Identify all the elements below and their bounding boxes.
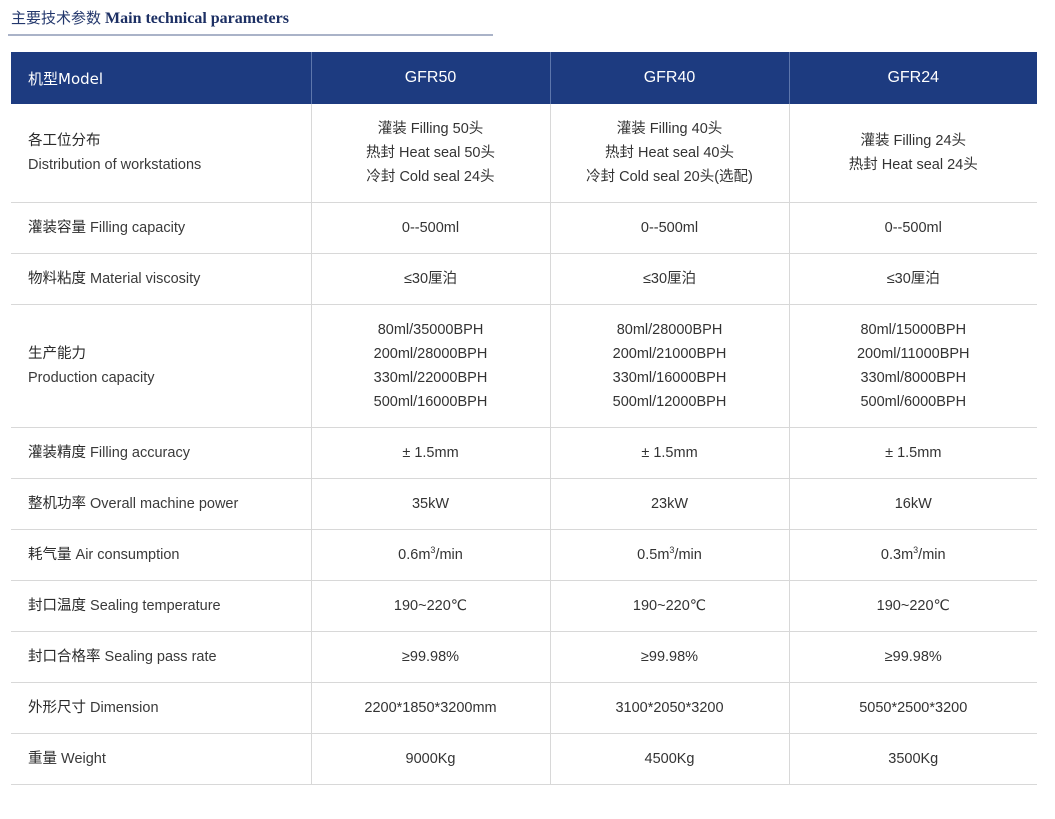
value-cell-gfr50: ± 1.5mm — [311, 428, 550, 479]
value-line: 330ml/22000BPH — [320, 366, 542, 390]
value-line: 200ml/21000BPH — [559, 342, 781, 366]
section-title: 主要技术参数Main technical parameters — [0, 0, 1055, 36]
row-label-cell: 重量 Weight — [11, 734, 311, 785]
table-row: 耗气量 Air consumption0.6m3/min0.5m3/min0.3… — [11, 530, 1037, 581]
spec-table: 机型Model GFR50 GFR40 GFR24 各工位分布Distribut… — [11, 52, 1037, 785]
table-row: 封口温度 Sealing temperature190~220℃190~220℃… — [11, 581, 1037, 632]
value-cell-gfr24: 0--500ml — [789, 203, 1037, 254]
value-cell-gfr50: ≥99.98% — [311, 632, 550, 683]
value-line: 0.6m3/min — [320, 543, 542, 567]
section-title-cn: 主要技术参数 — [11, 9, 101, 27]
value-cell-gfr50: 80ml/35000BPH200ml/28000BPH330ml/22000BP… — [311, 305, 550, 428]
column-header-model: 机型Model — [11, 52, 311, 104]
value-line: 16kW — [798, 492, 1030, 516]
row-label-cell: 封口合格率 Sealing pass rate — [11, 632, 311, 683]
value-cell-gfr40: 190~220℃ — [550, 581, 789, 632]
value-cell-gfr40: ± 1.5mm — [550, 428, 789, 479]
value-line: 80ml/35000BPH — [320, 318, 542, 342]
value-line: 0--500ml — [798, 216, 1030, 240]
value-line: 灌装 Filling 40头 — [559, 117, 781, 141]
row-label-cn: 灌装容量 — [28, 220, 86, 236]
table-row: 封口合格率 Sealing pass rate≥99.98%≥99.98%≥99… — [11, 632, 1037, 683]
table-row: 灌装容量 Filling capacity0--500ml0--500ml0--… — [11, 203, 1037, 254]
value-line: 500ml/6000BPH — [798, 390, 1030, 414]
table-header-row: 机型Model GFR50 GFR40 GFR24 — [11, 52, 1037, 104]
row-label-en: Weight — [57, 751, 106, 767]
row-label-cn: 封口温度 — [28, 598, 86, 614]
table-row: 物料粘度 Material viscosity≤30厘泊≤30厘泊≤30厘泊 — [11, 254, 1037, 305]
row-label-cn: 物料粘度 — [28, 271, 86, 287]
title-underline-rule — [8, 34, 493, 36]
value-cell-gfr24: ≥99.98% — [789, 632, 1037, 683]
value-line: ≤30厘泊 — [798, 267, 1030, 291]
value-cell-gfr24: 190~220℃ — [789, 581, 1037, 632]
value-cell-gfr24: ± 1.5mm — [789, 428, 1037, 479]
value-line: 冷封 Cold seal 20头(选配) — [559, 165, 781, 189]
section-title-en: Main technical parameters — [105, 10, 289, 27]
row-label-cn: 生产能力 — [28, 342, 299, 366]
value-line: 热封 Heat seal 24头 — [798, 153, 1030, 177]
value-cell-gfr40: 0.5m3/min — [550, 530, 789, 581]
value-cell-gfr24: 3500Kg — [789, 734, 1037, 785]
row-label-cn: 整机功率 — [28, 496, 86, 512]
section-title-text: 主要技术参数Main technical parameters — [11, 8, 1055, 29]
value-line: ≤30厘泊 — [559, 267, 781, 291]
value-cell-gfr24: 80ml/15000BPH200ml/11000BPH330ml/8000BPH… — [789, 305, 1037, 428]
value-line: 190~220℃ — [798, 594, 1030, 618]
value-line: 5050*2500*3200 — [798, 696, 1030, 720]
value-line: 热封 Heat seal 40头 — [559, 141, 781, 165]
value-cell-gfr50: 9000Kg — [311, 734, 550, 785]
value-cell-gfr50: ≤30厘泊 — [311, 254, 550, 305]
value-line: 0.3m3/min — [798, 543, 1030, 567]
value-line: ≥99.98% — [320, 645, 542, 669]
value-line: 3100*2050*3200 — [559, 696, 781, 720]
value-line: 500ml/12000BPH — [559, 390, 781, 414]
row-label-en: Filling accuracy — [86, 445, 190, 461]
value-line: 80ml/15000BPH — [798, 318, 1030, 342]
row-label-cell: 物料粘度 Material viscosity — [11, 254, 311, 305]
spec-table-container: 机型Model GFR50 GFR40 GFR24 各工位分布Distribut… — [11, 52, 1037, 785]
value-cell-gfr40: 23kW — [550, 479, 789, 530]
value-cell-gfr50: 35kW — [311, 479, 550, 530]
row-label-en: Sealing pass rate — [101, 649, 217, 665]
spec-sheet-page: 主要技术参数Main technical parameters 机型Model … — [0, 0, 1055, 819]
value-cell-gfr50: 0--500ml — [311, 203, 550, 254]
value-cell-gfr40: 0--500ml — [550, 203, 789, 254]
row-label-cell: 整机功率 Overall machine power — [11, 479, 311, 530]
value-cell-gfr40: ≤30厘泊 — [550, 254, 789, 305]
table-row: 外形尺寸 Dimension2200*1850*3200mm3100*2050*… — [11, 683, 1037, 734]
column-header-gfr24: GFR24 — [789, 52, 1037, 104]
row-label-cell: 外形尺寸 Dimension — [11, 683, 311, 734]
value-line: 9000Kg — [320, 747, 542, 771]
value-line: 热封 Heat seal 50头 — [320, 141, 542, 165]
value-line: 80ml/28000BPH — [559, 318, 781, 342]
value-line: 冷封 Cold seal 24头 — [320, 165, 542, 189]
row-label-en: Dimension — [86, 700, 159, 716]
row-label-cn: 外形尺寸 — [28, 700, 86, 716]
value-cell-gfr24: ≤30厘泊 — [789, 254, 1037, 305]
column-header-gfr40: GFR40 — [550, 52, 789, 104]
value-line: ≥99.98% — [798, 645, 1030, 669]
row-label-en: Distribution of workstations — [28, 153, 299, 177]
value-line: 灌装 Filling 24头 — [798, 129, 1030, 153]
value-cell-gfr24: 0.3m3/min — [789, 530, 1037, 581]
row-label-en: Filling capacity — [86, 220, 185, 236]
row-label-cell: 生产能力Production capacity — [11, 305, 311, 428]
value-cell-gfr24: 16kW — [789, 479, 1037, 530]
value-line: 190~220℃ — [320, 594, 542, 618]
row-label-cell: 封口温度 Sealing temperature — [11, 581, 311, 632]
row-label-cn: 耗气量 — [28, 547, 72, 563]
value-cell-gfr24: 5050*2500*3200 — [789, 683, 1037, 734]
value-line: ± 1.5mm — [798, 441, 1030, 465]
table-row: 各工位分布Distribution of workstations灌装 Fill… — [11, 104, 1037, 203]
row-label-cell: 灌装精度 Filling accuracy — [11, 428, 311, 479]
value-line: 200ml/28000BPH — [320, 342, 542, 366]
value-cell-gfr40: ≥99.98% — [550, 632, 789, 683]
row-label-cn: 各工位分布 — [28, 129, 299, 153]
value-line: 200ml/11000BPH — [798, 342, 1030, 366]
value-cell-gfr50: 灌装 Filling 50头热封 Heat seal 50头冷封 Cold se… — [311, 104, 550, 203]
row-label-cell: 各工位分布Distribution of workstations — [11, 104, 311, 203]
value-cell-gfr40: 灌装 Filling 40头热封 Heat seal 40头冷封 Cold se… — [550, 104, 789, 203]
table-row: 重量 Weight9000Kg4500Kg3500Kg — [11, 734, 1037, 785]
value-line: 2200*1850*3200mm — [320, 696, 542, 720]
value-cell-gfr24: 灌装 Filling 24头热封 Heat seal 24头 — [789, 104, 1037, 203]
table-row: 生产能力Production capacity80ml/35000BPH200m… — [11, 305, 1037, 428]
value-line: 330ml/16000BPH — [559, 366, 781, 390]
row-label-cn: 封口合格率 — [28, 649, 101, 665]
table-row: 整机功率 Overall machine power35kW23kW16kW — [11, 479, 1037, 530]
value-line: 0--500ml — [559, 216, 781, 240]
row-label-en: Material viscosity — [86, 271, 200, 287]
spec-table-head: 机型Model GFR50 GFR40 GFR24 — [11, 52, 1037, 104]
row-label-en: Sealing temperature — [86, 598, 221, 614]
value-line: ≥99.98% — [559, 645, 781, 669]
value-cell-gfr40: 80ml/28000BPH200ml/21000BPH330ml/16000BP… — [550, 305, 789, 428]
row-label-cell: 灌装容量 Filling capacity — [11, 203, 311, 254]
row-label-en: Production capacity — [28, 366, 299, 390]
value-line: 3500Kg — [798, 747, 1030, 771]
value-line: 330ml/8000BPH — [798, 366, 1030, 390]
value-cell-gfr40: 4500Kg — [550, 734, 789, 785]
table-row: 灌装精度 Filling accuracy± 1.5mm± 1.5mm± 1.5… — [11, 428, 1037, 479]
row-label-en: Air consumption — [72, 547, 180, 563]
row-label-cn: 灌装精度 — [28, 445, 86, 461]
value-cell-gfr50: 0.6m3/min — [311, 530, 550, 581]
row-label-cell: 耗气量 Air consumption — [11, 530, 311, 581]
value-line: 4500Kg — [559, 747, 781, 771]
value-cell-gfr50: 2200*1850*3200mm — [311, 683, 550, 734]
value-line: 500ml/16000BPH — [320, 390, 542, 414]
column-header-gfr50: GFR50 — [311, 52, 550, 104]
value-line: 灌装 Filling 50头 — [320, 117, 542, 141]
value-line: ≤30厘泊 — [320, 267, 542, 291]
value-line: 23kW — [559, 492, 781, 516]
spec-table-body: 各工位分布Distribution of workstations灌装 Fill… — [11, 104, 1037, 785]
value-cell-gfr50: 190~220℃ — [311, 581, 550, 632]
value-line: 0--500ml — [320, 216, 542, 240]
row-label-cn: 重量 — [28, 751, 57, 767]
value-line: 190~220℃ — [559, 594, 781, 618]
value-cell-gfr40: 3100*2050*3200 — [550, 683, 789, 734]
value-line: 35kW — [320, 492, 542, 516]
value-line: ± 1.5mm — [559, 441, 781, 465]
value-line: 0.5m3/min — [559, 543, 781, 567]
value-line: ± 1.5mm — [320, 441, 542, 465]
row-label-en: Overall machine power — [86, 496, 238, 512]
